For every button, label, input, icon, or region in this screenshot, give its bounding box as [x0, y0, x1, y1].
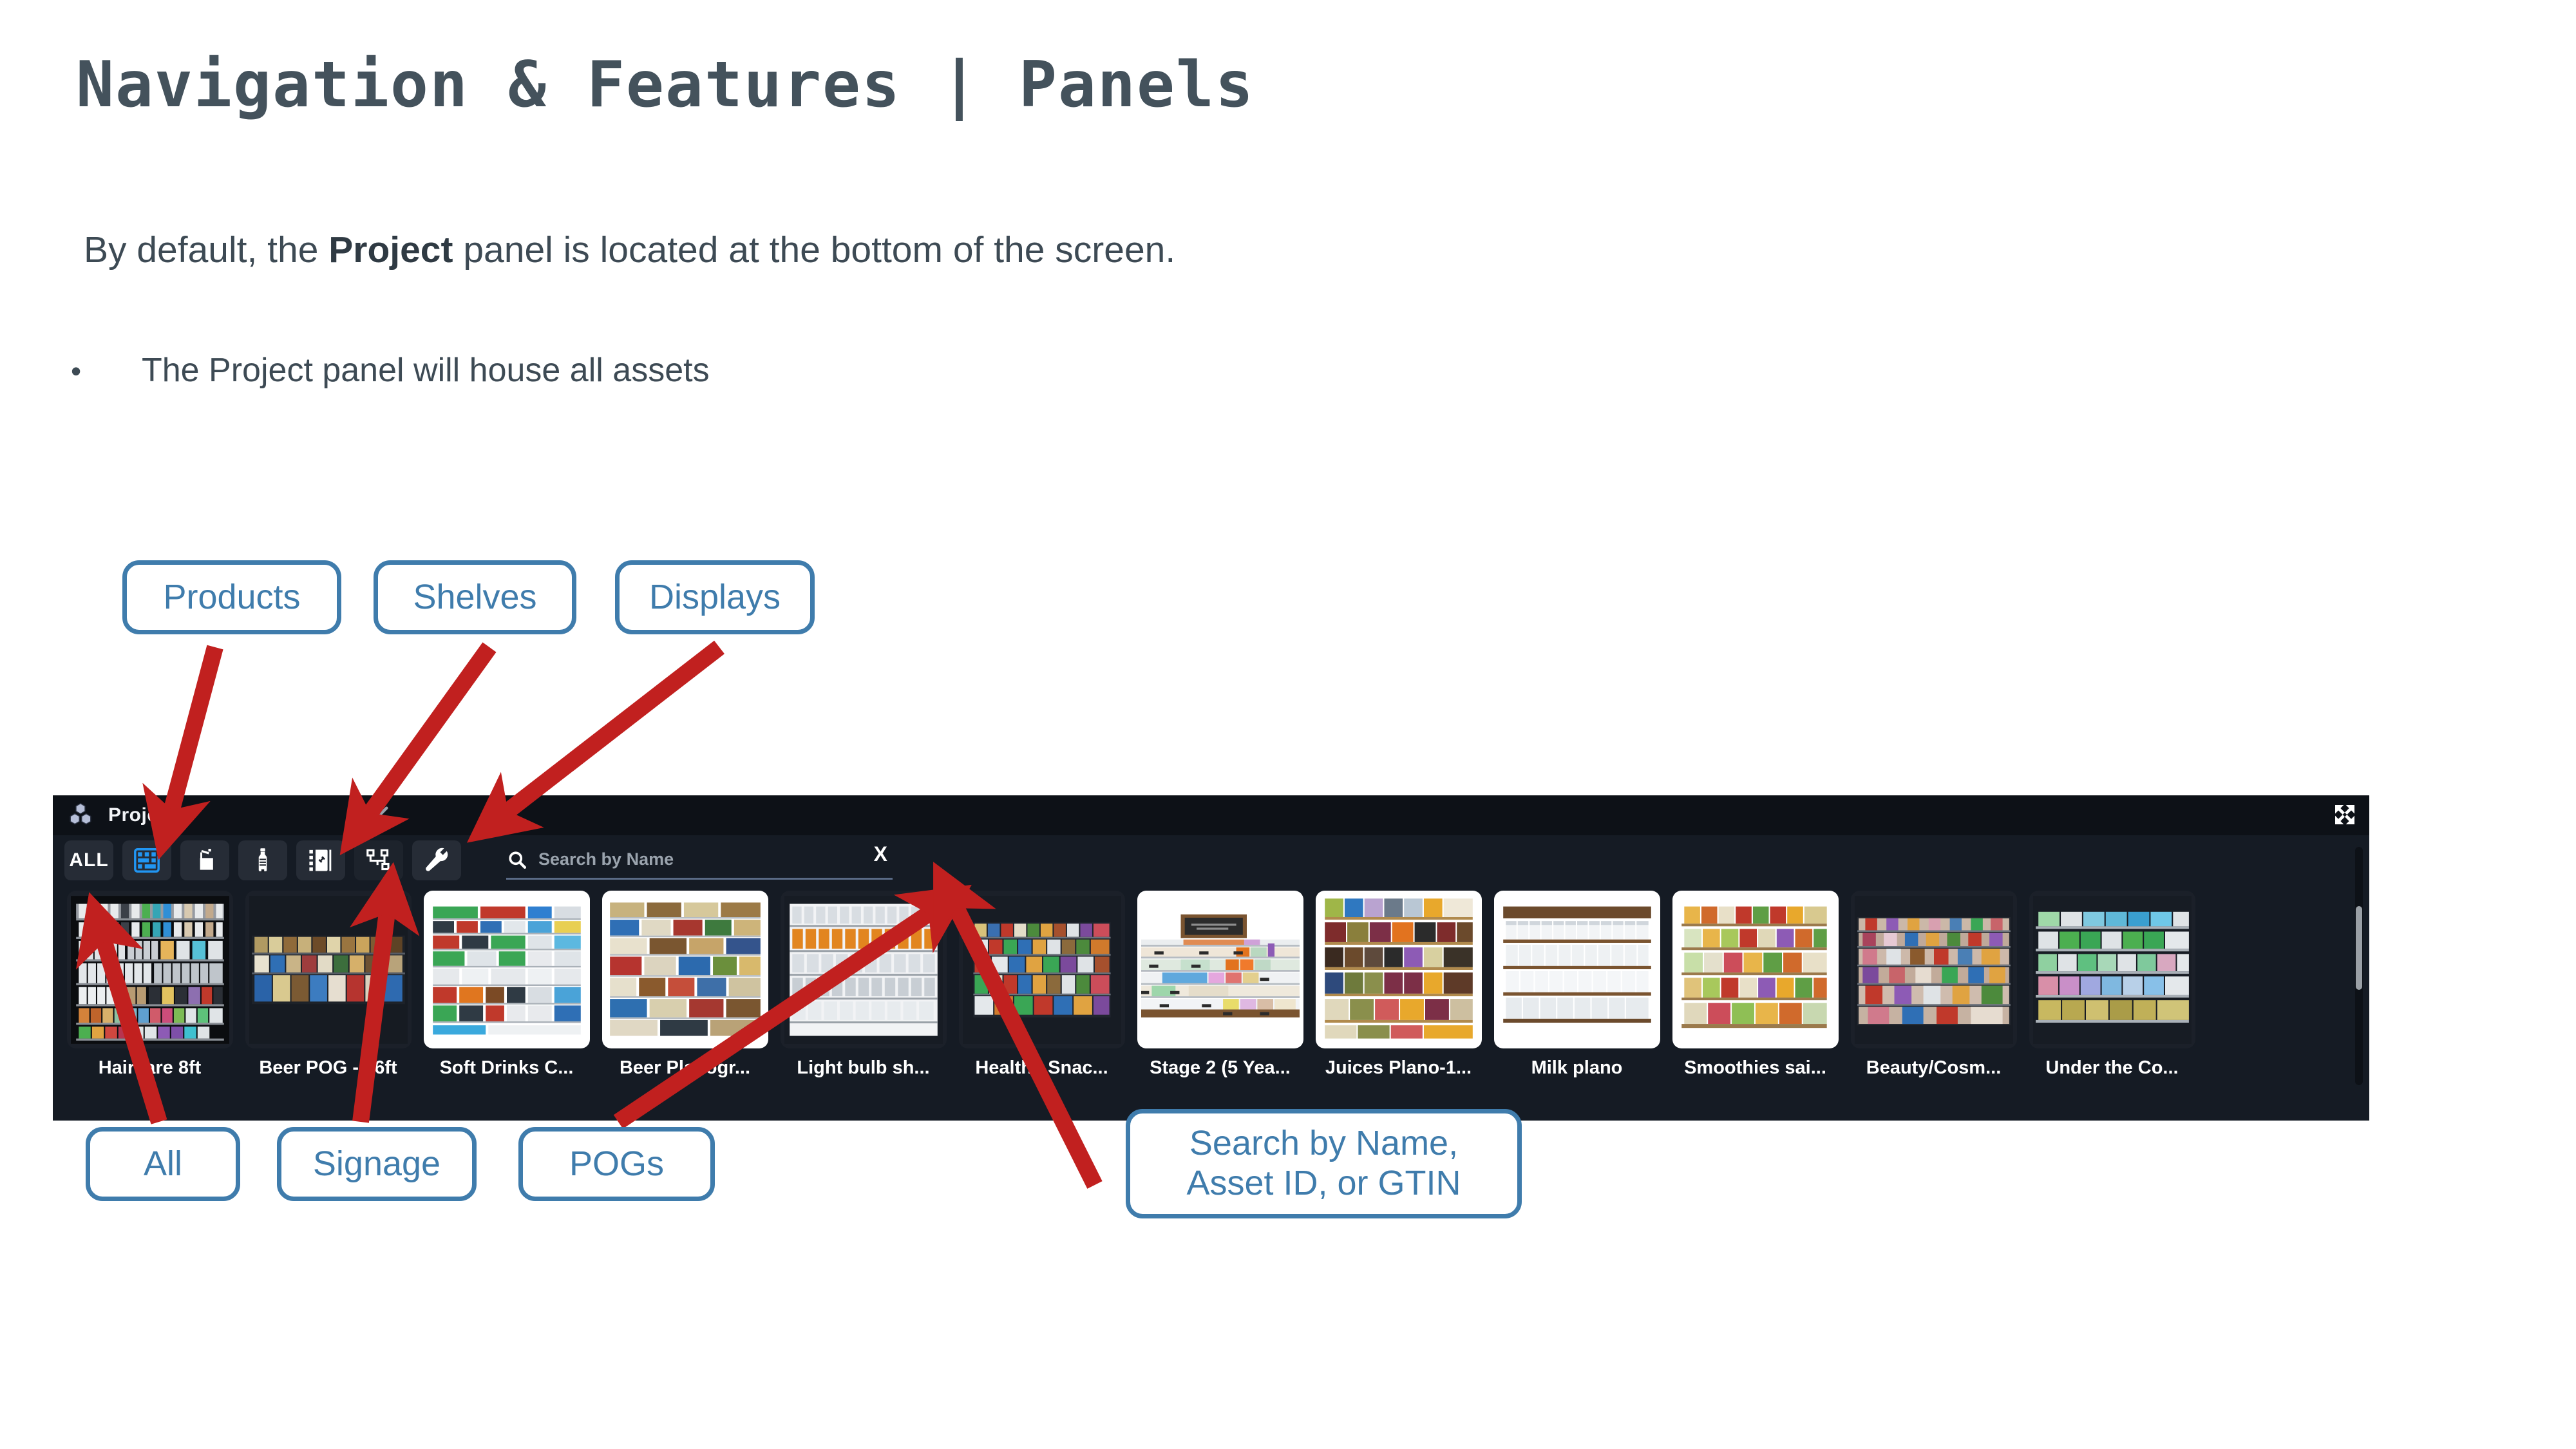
asset-thumbnail[interactable] — [2029, 891, 2195, 1048]
asset-label: Haircare 8ft — [61, 1057, 239, 1079]
filter-shelves-button[interactable] — [122, 840, 171, 880]
asset-label: Healthy Snac... — [952, 1057, 1131, 1079]
asset-thumbnail[interactable] — [424, 891, 590, 1048]
bullet-item: • The Project panel will house all asset… — [71, 351, 710, 390]
callout-search-line1: Search by Name, — [1189, 1124, 1458, 1164]
shelf-grid-icon — [132, 846, 162, 875]
search-field[interactable]: Search by Name X — [506, 841, 893, 880]
cubes-icon — [67, 802, 94, 829]
callout-products: Products — [122, 560, 341, 634]
callout-pogs-label: POGs — [569, 1144, 664, 1184]
asset-label: Milk plano — [1488, 1057, 1666, 1079]
asset-item[interactable]: Under the Co... — [2023, 891, 2201, 1119]
signage-icon — [307, 846, 335, 875]
expand-icon[interactable] — [2329, 799, 2360, 830]
callout-displays: Displays — [615, 560, 815, 634]
asset-grid: Haircare 8ft — [53, 885, 2369, 1119]
asset-item[interactable]: Healthy Snac... — [952, 891, 1131, 1119]
wrench-icon — [422, 846, 451, 875]
panel-title: Project — [108, 804, 176, 826]
asset-label: Smoothies sai... — [1666, 1057, 1844, 1079]
callout-search: Search by Name, Asset ID, or GTIN — [1126, 1109, 1522, 1218]
intro-text-after: panel is located at the bottom of the sc… — [453, 229, 1176, 270]
filter-pogs-button[interactable] — [354, 840, 403, 880]
asset-item[interactable]: Beer POG - 16ft — [239, 891, 417, 1119]
page-title: Navigation & Features | Panels — [76, 48, 1255, 122]
panel-titlebar: Project — [53, 795, 2369, 835]
callout-displays-label: Displays — [649, 578, 781, 618]
asset-thumbnail[interactable] — [1851, 891, 2017, 1048]
callout-shelves-label: Shelves — [413, 578, 536, 618]
callout-products-label: Products — [163, 578, 300, 618]
bullet-marker: • — [71, 354, 142, 388]
filter-all-button[interactable]: ALL — [64, 840, 113, 880]
callout-all: All — [86, 1127, 240, 1201]
asset-item[interactable]: Beer Planogr... — [596, 891, 774, 1119]
intro-text-before: By default, the — [84, 229, 328, 270]
asset-item[interactable]: Juices Plano-1... — [1309, 891, 1488, 1119]
bullet-label: The Project panel will house all assets — [142, 351, 710, 390]
asset-thumbnail[interactable] — [1316, 891, 1482, 1048]
intro-bold-term: Project — [328, 229, 453, 270]
asset-thumbnail[interactable] — [602, 891, 768, 1048]
asset-item[interactable]: Smoothies sai... — [1666, 891, 1844, 1119]
callout-pogs: POGs — [518, 1127, 715, 1201]
display-stand-icon — [191, 846, 219, 875]
panel-scrollbar-track[interactable] — [2355, 847, 2363, 1085]
filter-all-label: ALL — [69, 849, 108, 871]
asset-label: Soft Drinks C... — [417, 1057, 596, 1079]
intro-paragraph: By default, the Project panel is located… — [84, 229, 1175, 271]
asset-label: Beer Planogr... — [596, 1057, 774, 1079]
asset-item[interactable]: Haircare 8ft — [61, 891, 239, 1119]
asset-label: Under the Co... — [2023, 1057, 2201, 1079]
callout-shelves: Shelves — [374, 560, 576, 634]
asset-thumbnail[interactable] — [959, 891, 1125, 1048]
search-clear-button[interactable]: X — [874, 842, 887, 866]
callout-signage: Signage — [277, 1127, 477, 1201]
asset-item[interactable]: Stage 2 (5 Yea... — [1131, 891, 1309, 1119]
asset-item[interactable]: Soft Drinks C... — [417, 891, 596, 1119]
asset-item[interactable]: Beauty/Cosm... — [1844, 891, 2023, 1119]
asset-label: Juices Plano-1... — [1309, 1057, 1488, 1079]
asset-label: Beer POG - 16ft — [239, 1057, 417, 1079]
asset-thumbnail[interactable] — [245, 891, 412, 1048]
callout-all-label: All — [144, 1144, 182, 1184]
callout-search-line2: Asset ID, or GTIN — [1186, 1164, 1461, 1204]
asset-thumbnail[interactable] — [1672, 891, 1839, 1048]
asset-thumbnail[interactable] — [1137, 891, 1303, 1048]
filter-displays-button[interactable] — [180, 840, 229, 880]
asset-thumbnail[interactable] — [781, 891, 947, 1048]
magnifier-icon — [506, 849, 528, 871]
annotation-arrows — [0, 0, 2576, 1449]
project-panel: Project ALL — [53, 795, 2369, 1121]
callout-signage-label: Signage — [313, 1144, 440, 1184]
bottle-icon — [249, 846, 277, 875]
search-input[interactable]: Search by Name — [538, 849, 674, 869]
asset-label: Light bulb sh... — [774, 1057, 952, 1079]
panel-scrollbar-thumb[interactable] — [2356, 906, 2362, 990]
asset-label: Beauty/Cosm... — [1844, 1057, 2023, 1079]
asset-thumbnail[interactable] — [67, 891, 233, 1048]
asset-item[interactable]: Milk plano — [1488, 891, 1666, 1119]
filter-signage-button[interactable] — [296, 840, 345, 880]
asset-label: Stage 2 (5 Yea... — [1131, 1057, 1309, 1079]
asset-item[interactable]: Light bulb sh... — [774, 891, 952, 1119]
hierarchy-icon — [365, 846, 393, 875]
asset-thumbnail[interactable] — [1494, 891, 1660, 1048]
panel-toolbar: ALL — [53, 835, 2369, 885]
filter-fixtures-button[interactable] — [412, 840, 461, 880]
close-icon[interactable] — [362, 799, 395, 833]
slide-root: Navigation & Features | Panels By defaul… — [0, 0, 2576, 1449]
filter-products-button[interactable] — [238, 840, 287, 880]
